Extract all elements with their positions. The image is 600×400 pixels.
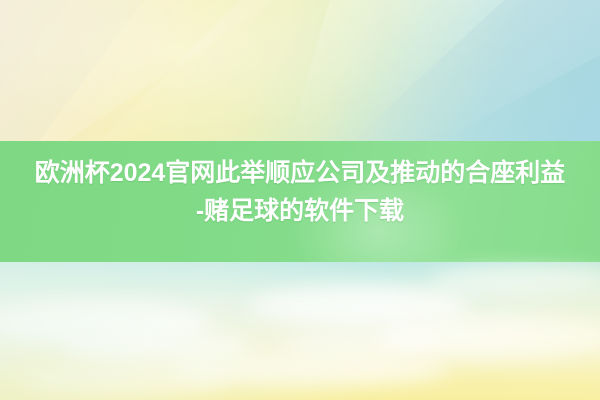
sky-color-tint-overlay [0, 262, 600, 400]
banner-headline: 欧洲杯2024官网此举顺应公司及推动的合座利益 -赌足球的软件下载 [8, 154, 592, 230]
green-title-band: 欧洲杯2024官网此举顺应公司及推动的合座利益 -赌足球的软件下载 [0, 141, 600, 262]
banner-headline-line-2: -赌足球的软件下载 [8, 192, 592, 230]
banner-headline-line-1: 欧洲杯2024官网此举顺应公司及推动的合座利益 [35, 159, 566, 187]
promo-banner: 欧洲杯2024官网此举顺应公司及推动的合座利益 -赌足球的软件下载 [0, 0, 600, 400]
top-highlight-haze [0, 0, 600, 145]
